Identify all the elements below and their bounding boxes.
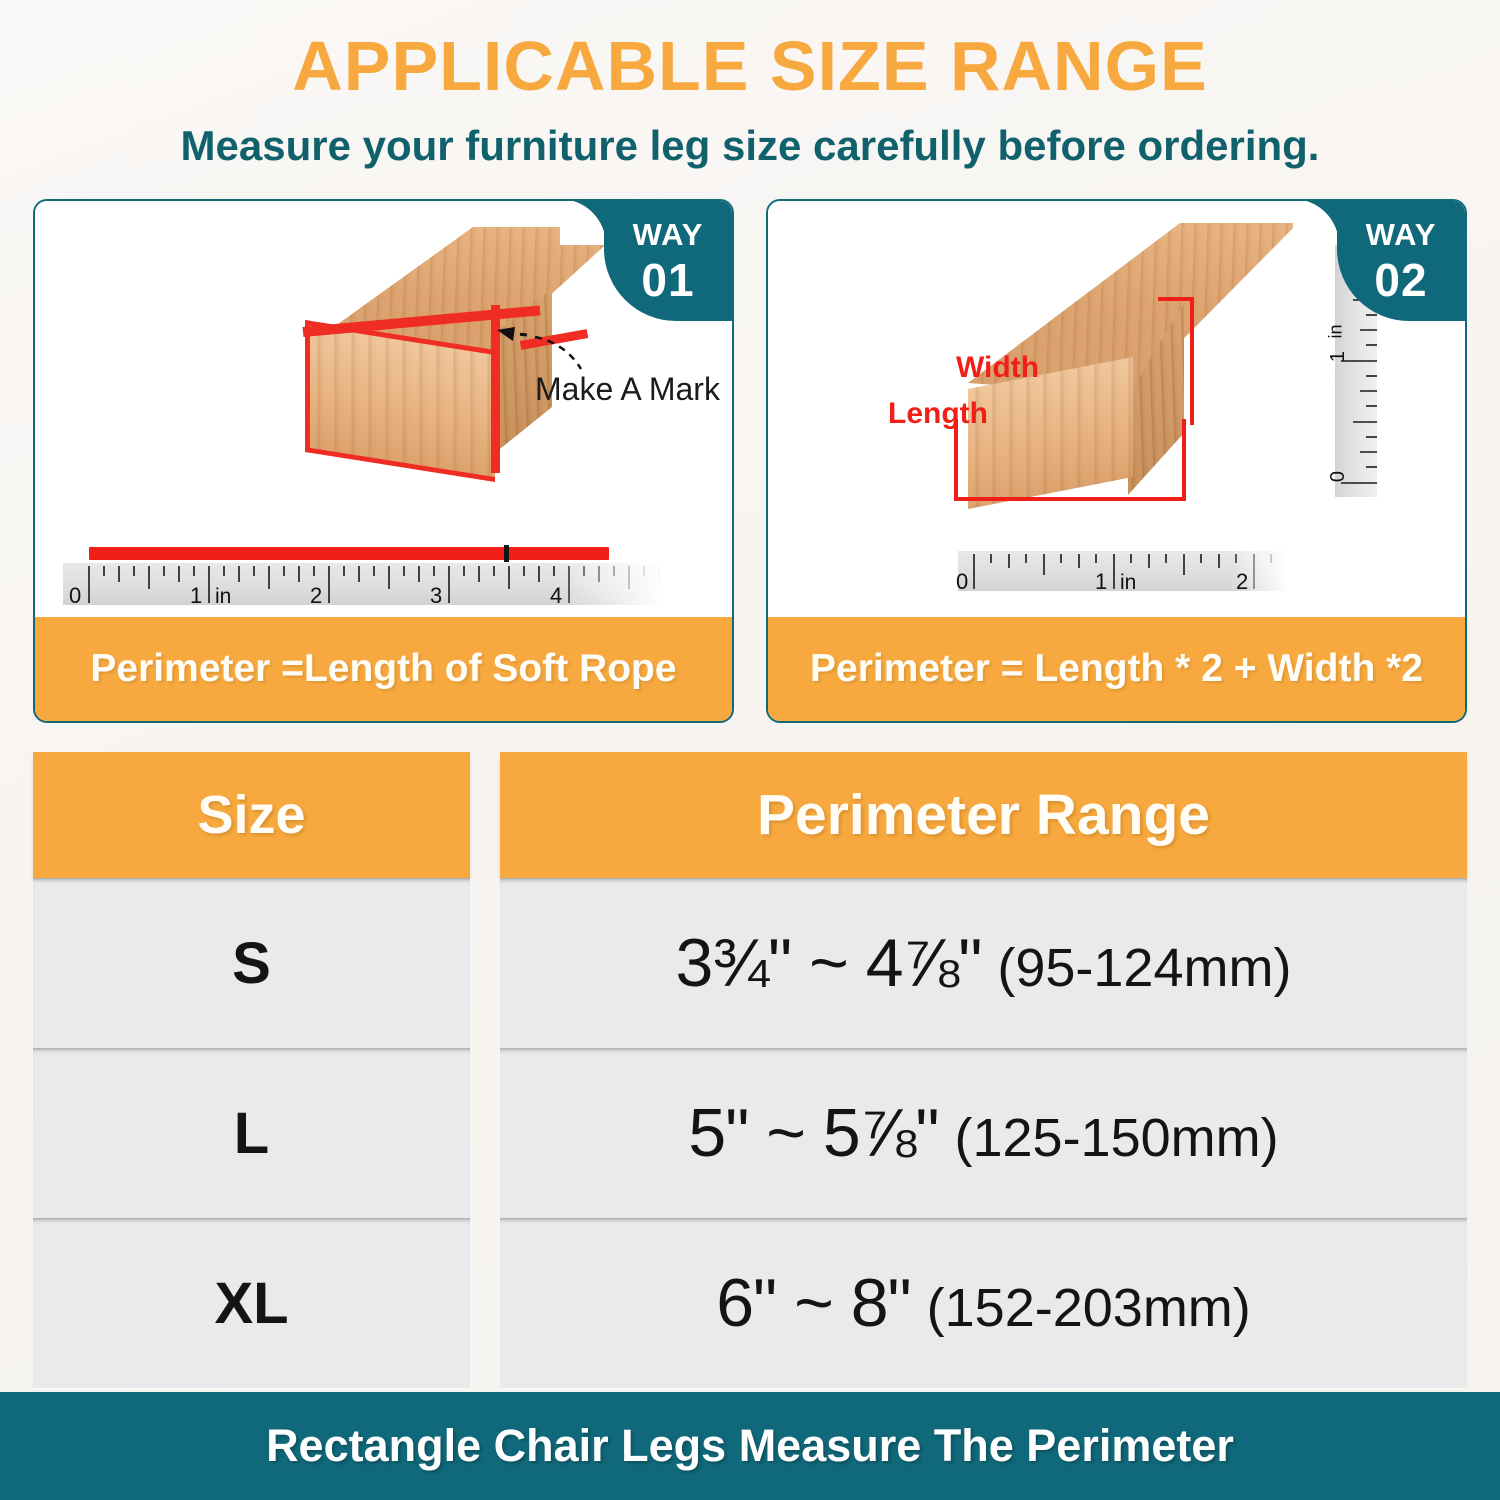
range-inches: 5" ~ 5⅞" bbox=[688, 1094, 938, 1172]
range-inches: 3¾" ~ 4⅞" bbox=[676, 924, 982, 1002]
range-value: 3¾" ~ 4⅞" (95-124mm) bbox=[676, 924, 1292, 1002]
way-02-badge-number: 02 bbox=[1337, 257, 1465, 303]
way-01-badge-label: WAY bbox=[604, 219, 732, 250]
size-value: L bbox=[234, 1100, 269, 1167]
mark-arrow-icon bbox=[493, 323, 603, 393]
width-label: Width bbox=[956, 351, 1039, 385]
size-value: S bbox=[232, 930, 271, 997]
range-value: 5" ~ 5⅞" (125-150mm) bbox=[688, 1094, 1278, 1172]
method-panel-way-01: WAY 01 Make A Mark bbox=[33, 199, 734, 723]
table-header-row: Size Perimeter Range bbox=[33, 752, 1467, 878]
table-cell-range: 3¾" ~ 4⅞" (95-124mm) bbox=[500, 878, 1467, 1048]
way-01-caption: Perimeter =Length of Soft Rope bbox=[35, 617, 732, 721]
range-value: 6" ~ 8" (152-203mm) bbox=[716, 1264, 1251, 1342]
ruler-horizontal-way-02: 0 1 in 2 bbox=[958, 535, 1288, 591]
ruler-h-tick-label-2: 2 bbox=[1236, 569, 1248, 595]
ruler-tick-label-1: 1 bbox=[190, 583, 202, 609]
size-table: Size Perimeter Range S 3¾" ~ 4⅞" (95-124… bbox=[33, 752, 1467, 1388]
ruler-tick-label-4: 4 bbox=[550, 583, 562, 609]
ruler-tick-label-0: 0 bbox=[69, 583, 81, 609]
ruler-tick-label-3: 3 bbox=[430, 583, 442, 609]
wood-block-way-01: Make A Mark bbox=[205, 227, 625, 507]
table-row[interactable]: XL 6" ~ 8" (152-203mm) bbox=[33, 1218, 1467, 1388]
ruler-h-tick-label-1: 1 bbox=[1095, 569, 1107, 595]
range-millimeters: (152-203mm) bbox=[927, 1277, 1251, 1339]
ruler-h-tick-label-0: 0 bbox=[956, 569, 968, 595]
table-cell-size: XL bbox=[33, 1218, 470, 1388]
page-title: APPLICABLE SIZE RANGE bbox=[0, 26, 1500, 106]
range-millimeters: (125-150mm) bbox=[955, 1107, 1279, 1169]
table-cell-size: S bbox=[33, 878, 470, 1048]
table-cell-range: 6" ~ 8" (152-203mm) bbox=[500, 1218, 1467, 1388]
red-bracket-width bbox=[1158, 297, 1194, 425]
table-header-range: Perimeter Range bbox=[500, 752, 1467, 878]
infographic-page: APPLICABLE SIZE RANGE Measure your furni… bbox=[0, 0, 1500, 1500]
way-02-illustration: WAY 02 bbox=[768, 201, 1465, 617]
ruler-ticks bbox=[63, 563, 663, 605]
way-02-badge-label: WAY bbox=[1337, 219, 1465, 250]
table-header-size: Size bbox=[33, 752, 470, 878]
range-millimeters: (95-124mm) bbox=[997, 937, 1291, 999]
way-01-illustration: WAY 01 Make A Mark bbox=[35, 201, 732, 617]
ruler-tick-label-2: 2 bbox=[310, 583, 322, 609]
table-cell-size: L bbox=[33, 1048, 470, 1218]
ruler-unit-label: in bbox=[215, 585, 231, 609]
way-01-badge-number: 01 bbox=[604, 257, 732, 303]
ruler-way-01: 0 1 in 2 3 4 bbox=[63, 547, 663, 605]
red-bracket-length bbox=[954, 419, 1186, 501]
size-value: XL bbox=[214, 1270, 288, 1337]
method-panels: WAY 01 Make A Mark bbox=[33, 199, 1467, 723]
way-02-caption: Perimeter = Length * 2 + Width *2 bbox=[768, 617, 1465, 721]
range-inches: 6" ~ 8" bbox=[716, 1264, 910, 1342]
rope-mark bbox=[504, 545, 509, 562]
table-row[interactable]: S 3¾" ~ 4⅞" (95-124mm) bbox=[33, 878, 1467, 1048]
ruler-h-unit-label: in bbox=[1120, 571, 1136, 595]
soft-rope-strip bbox=[89, 547, 609, 560]
table-cell-range: 5" ~ 5⅞" (125-150mm) bbox=[500, 1048, 1467, 1218]
footer-banner: Rectangle Chair Legs Measure The Perimet… bbox=[0, 1392, 1500, 1500]
table-row[interactable]: L 5" ~ 5⅞" (125-150mm) bbox=[33, 1048, 1467, 1218]
footer-text: Rectangle Chair Legs Measure The Perimet… bbox=[266, 1420, 1234, 1472]
page-subtitle: Measure your furniture leg size carefull… bbox=[0, 122, 1500, 170]
ruler-body bbox=[63, 563, 663, 605]
method-panel-way-02: WAY 02 bbox=[766, 199, 1467, 723]
